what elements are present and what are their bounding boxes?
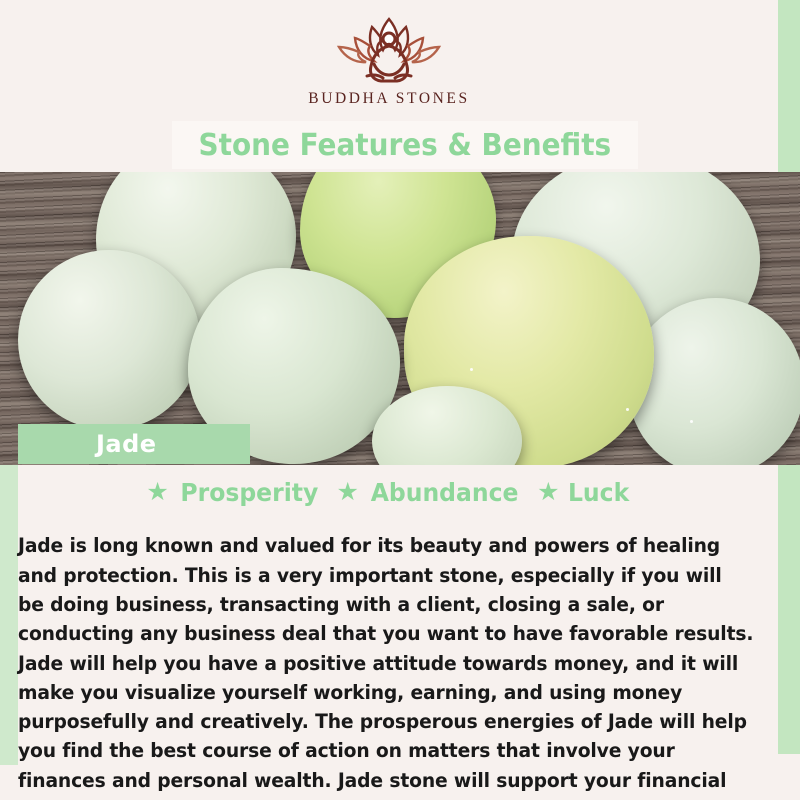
benefit-item: ★ Luck xyxy=(537,478,632,507)
benefit-label: Luck xyxy=(568,478,629,507)
lotus-meditation-icon xyxy=(331,14,447,86)
benefit-item: ★ Prosperity xyxy=(146,478,322,507)
star-icon: ★ xyxy=(336,480,358,505)
star-icon: ★ xyxy=(537,480,559,505)
benefit-label: Prosperity xyxy=(180,478,318,507)
benefits-row: ★ Prosperity ★ Abundance ★ Luck xyxy=(0,478,778,507)
benefit-label: Abundance xyxy=(371,478,519,507)
poster-card: BUDDHA STONES Stone Features & Benefits … xyxy=(0,0,800,800)
brand-logo: BUDDHA STONES xyxy=(0,14,778,108)
stone-photo xyxy=(0,172,800,465)
benefit-item: ★ Abundance xyxy=(336,478,523,507)
stone-description: Jade is long known and valued for its be… xyxy=(18,531,753,800)
title-banner: Stone Features & Benefits xyxy=(172,121,638,169)
frame-left-strip-lower xyxy=(0,465,18,765)
stone-name: Jade xyxy=(96,430,157,458)
page-title: Stone Features & Benefits xyxy=(199,128,612,163)
stone-name-label: Jade xyxy=(18,424,250,464)
photo-specks xyxy=(0,172,800,465)
brand-name: BUDDHA STONES xyxy=(0,90,778,108)
star-icon: ★ xyxy=(146,480,168,505)
